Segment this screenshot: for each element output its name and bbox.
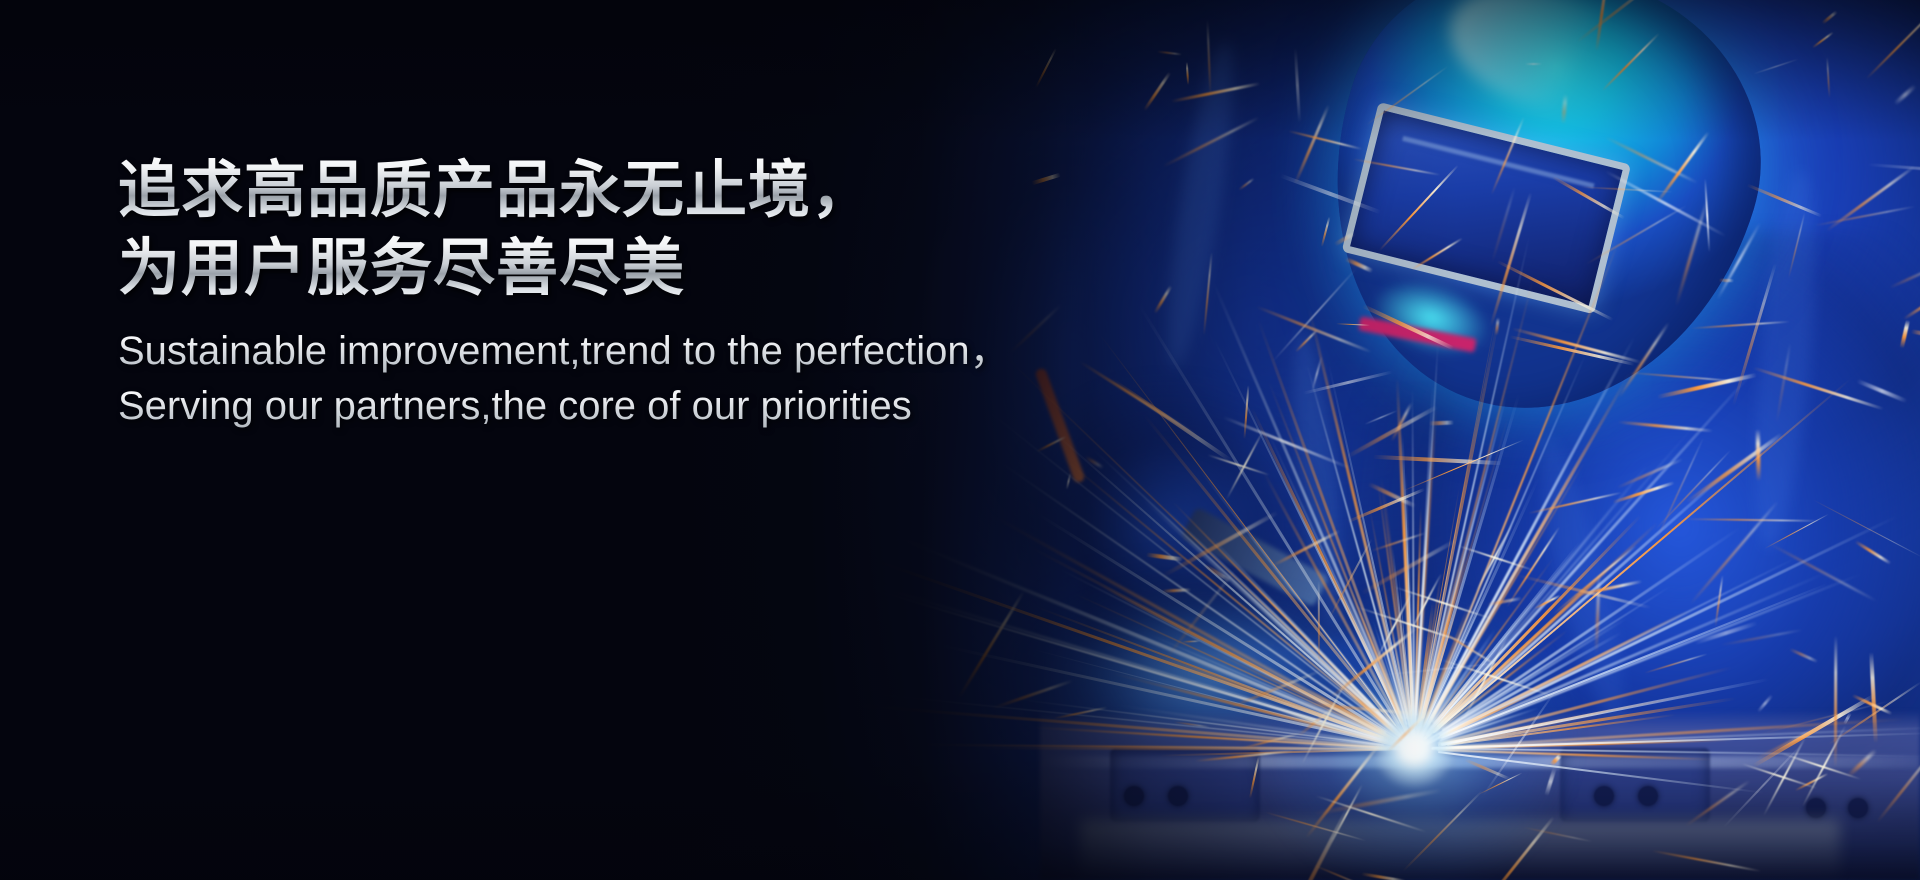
workpiece-plate — [1560, 748, 1710, 822]
workpiece-plate — [1110, 748, 1260, 822]
workpiece-hole — [1638, 786, 1658, 806]
arc-core — [1372, 706, 1456, 790]
subtitle-line-1: Sustainable improvement,trend to the per… — [118, 324, 1118, 379]
workpiece-hole — [1594, 786, 1614, 806]
banner-copy: 追求高品质产品永无止境， 为用户服务尽善尽美 Sustainable impro… — [118, 152, 1118, 434]
workpiece-hole — [1124, 786, 1144, 806]
headline-line-2: 为用户服务尽善尽美 — [118, 230, 1118, 308]
headline-line-1: 追求高品质产品永无止境， — [118, 152, 1118, 230]
workpiece-hole — [1848, 798, 1868, 818]
floor-reflection — [1080, 820, 1840, 880]
workpiece-hole — [1168, 786, 1188, 806]
workpiece-hole — [1806, 798, 1826, 818]
welding-photo — [0, 0, 1920, 880]
subtitle-block: Sustainable improvement,trend to the per… — [118, 324, 1118, 434]
subtitle-line-2: Serving our partners,the core of our pri… — [118, 379, 1118, 434]
hero-banner: 追求高品质产品永无止境， 为用户服务尽善尽美 Sustainable impro… — [0, 0, 1920, 880]
